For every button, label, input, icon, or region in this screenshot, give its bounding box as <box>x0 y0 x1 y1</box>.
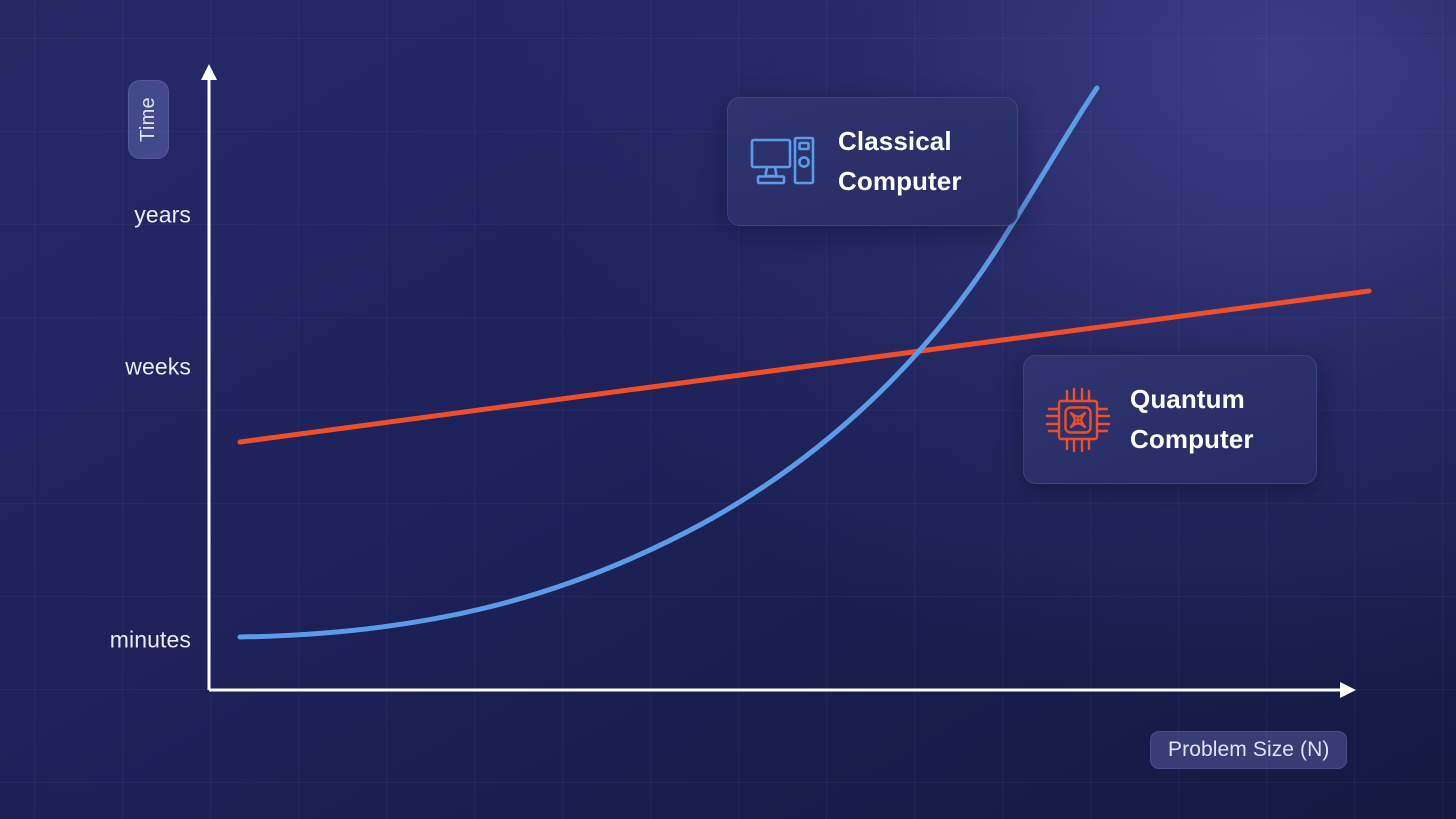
chart-canvas: years weeks minutes Time Problem Size (N… <box>0 0 1456 819</box>
y-axis-arrowhead <box>201 64 217 80</box>
desktop-computer-icon <box>750 133 816 191</box>
y-tick-label-years: years <box>134 202 191 229</box>
legend-label-classical: Classical Computer <box>838 122 962 202</box>
y-axis-title-text: Time <box>137 97 160 142</box>
legend-card-classical[interactable]: Classical Computer <box>727 97 1018 226</box>
legend-label-quantum-line2: Computer <box>1130 420 1254 460</box>
y-tick-label-minutes: minutes <box>110 627 191 654</box>
legend-label-quantum-line1: Quantum <box>1130 380 1254 420</box>
x-axis-arrowhead <box>1340 682 1356 698</box>
x-axis-title-text: Problem Size (N) <box>1168 738 1329 762</box>
y-axis-title-badge: Time <box>128 80 169 159</box>
legend-label-quantum: Quantum Computer <box>1130 380 1254 460</box>
legend-card-quantum[interactable]: Quantum Computer <box>1023 355 1317 484</box>
y-tick-label-weeks: weeks <box>125 354 191 381</box>
legend-label-classical-line1: Classical <box>838 122 962 162</box>
legend-label-classical-line2: Computer <box>838 162 962 202</box>
x-axis-title-badge: Problem Size (N) <box>1150 731 1347 769</box>
quantum-chip-icon <box>1044 386 1112 454</box>
